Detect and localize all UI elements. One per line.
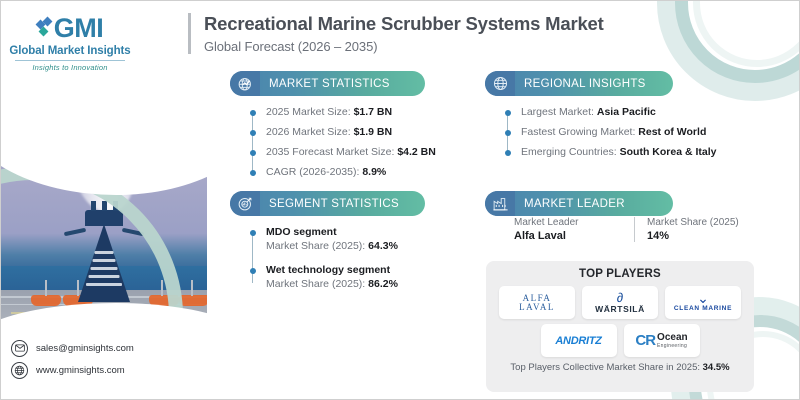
player-logo-mark: ∂: [595, 291, 645, 305]
davit: [161, 280, 163, 296]
contact-website-row[interactable]: www.gminsights.com: [11, 362, 167, 379]
davit: [191, 280, 193, 296]
market-leader-label: Market Leader: [514, 217, 634, 228]
decorative-ring-top-right-inner: [693, 0, 800, 67]
lifeboat: [31, 295, 61, 306]
player-logo-text: LAVAL: [519, 303, 555, 312]
collective-share-label: Top Players Collective Market Share in 2…: [510, 362, 700, 373]
top-players-title: TOP PLAYERS: [496, 268, 744, 280]
market-statistics-list: 2025 Market Size: $1.7 BN 2026 Market Si…: [249, 106, 489, 178]
brand-acronym: GMI: [54, 15, 104, 42]
player-logo-clean-marine: ⌄ CLEAN MARINE: [665, 286, 741, 319]
list-item: CAGR (2026-2035): 8.9%: [266, 166, 489, 178]
region-value: Asia Pacific: [597, 106, 656, 118]
section-label: MARKET LEADER: [515, 198, 625, 210]
market-leader-share-block: Market Share (2025) 14%: [647, 217, 767, 242]
segment-share-value: 64.3%: [368, 240, 398, 252]
player-logo-mark: ⌄: [674, 293, 732, 304]
player-logo-text: Ocean: [657, 333, 688, 343]
list-item: 2025 Market Size: $1.7 BN: [266, 106, 489, 118]
section-header-regional-insights: REGIONAL INSIGHTS: [485, 71, 673, 96]
market-leader-name-block: Market Leader Alfa Laval: [514, 217, 634, 242]
stat-label: CAGR (2026-2035):: [266, 166, 359, 178]
pie-target-icon: [230, 191, 260, 216]
segment-title: MDO segment: [266, 226, 489, 238]
decorative-ring-top-right-mid: [675, 0, 800, 83]
player-logo-alfa-laval: ALFA LAVAL: [499, 286, 575, 319]
region-label: Largest Market:: [521, 106, 594, 118]
player-logo-subtext: Engineering: [657, 343, 688, 349]
factory-icon: [485, 191, 515, 216]
logo-divider: [15, 60, 125, 61]
exhaust-stack: [91, 201, 96, 211]
segment-share-value: 86.2%: [368, 278, 398, 290]
vertical-divider: [634, 217, 635, 242]
funnel-cap: [85, 210, 123, 226]
list-item: Fastest Growing Market: Rest of World: [521, 126, 784, 138]
segment-share-label: Market Share (2025):: [266, 240, 365, 252]
ship-funnel: [78, 224, 130, 302]
stat-label: 2025 Market Size:: [266, 106, 351, 118]
gmi-diamonds-icon: [37, 18, 52, 40]
section-label: MARKET STATISTICS: [260, 78, 390, 90]
section-header-market-statistics: MARKET STATISTICS: [230, 71, 425, 96]
top-players-row-2: ANDRITZ CR Ocean Engineering: [496, 324, 744, 357]
contact-card: sales@gminsights.com www.gminsights.com: [0, 333, 167, 385]
list-item: 2026 Market Size: $1.9 BN: [266, 126, 489, 138]
page-title-block: Recreational Marine Scrubber Systems Mar…: [188, 13, 604, 54]
lifeboat: [179, 295, 207, 306]
player-logo-text: WÄRTSILÄ: [595, 305, 645, 314]
list-item: Wet technology segment Market Share (202…: [266, 264, 489, 290]
regional-insights-list: Largest Market: Asia Pacific Fastest Gro…: [504, 106, 784, 158]
stat-label: 2026 Market Size:: [266, 126, 351, 138]
list-item: 2035 Forecast Market Size: $4.2 BN: [266, 146, 489, 158]
player-logo-cr-ocean-engineering: CR Ocean Engineering: [624, 324, 700, 357]
globe-chart-icon: [230, 71, 260, 96]
list-item: Largest Market: Asia Pacific: [521, 106, 784, 118]
stat-label: 2035 Forecast Market Size:: [266, 146, 394, 158]
contact-email: sales@gminsights.com: [36, 343, 134, 354]
player-logo-wartsila: ∂ WÄRTSILÄ: [582, 286, 658, 319]
contact-email-row[interactable]: sales@gminsights.com: [11, 340, 167, 357]
region-value: South Korea & Italy: [620, 146, 717, 158]
segment-share-label: Market Share (2025):: [266, 278, 365, 290]
player-logo-text: ANDRITZ: [555, 335, 601, 347]
brand-logo: GMI Global Market Insights Insights to I…: [9, 15, 131, 72]
region-label: Fastest Growing Market:: [521, 126, 635, 138]
stat-value: $1.9 BN: [354, 126, 393, 138]
globe-icon: [485, 71, 515, 96]
top-players-collective-share: Top Players Collective Market Share in 2…: [496, 362, 744, 373]
decorative-ring-top-right-outer: [657, 0, 800, 101]
section-label: REGIONAL INSIGHTS: [515, 78, 646, 90]
brand-tagline: Insights to Innovation: [9, 63, 131, 72]
top-players-card: TOP PLAYERS ALFA LAVAL ∂ WÄRTSILÄ ⌄ CLEA…: [486, 261, 754, 392]
market-leader-details: Market Leader Alfa Laval Market Share (2…: [514, 217, 767, 242]
segment-title: Wet technology segment: [266, 264, 489, 276]
top-players-row-1: ALFA LAVAL ∂ WÄRTSILÄ ⌄ CLEAN MARINE: [496, 286, 744, 319]
region-label: Emerging Countries:: [521, 146, 617, 158]
envelope-icon: [11, 340, 28, 357]
contact-website: www.gminsights.com: [36, 365, 125, 376]
player-logo-text: CLEAN MARINE: [674, 305, 732, 312]
section-label: SEGMENT STATISTICS: [260, 198, 399, 210]
list-item: MDO segment Market Share (2025): 64.3%: [266, 226, 489, 252]
segment-share: Market Share (2025): 86.2%: [266, 278, 489, 290]
stat-value: $4.2 BN: [397, 146, 436, 158]
market-share-label: Market Share (2025): [647, 217, 767, 228]
globe-icon: [11, 362, 28, 379]
stat-value: 8.9%: [362, 166, 386, 178]
davit: [45, 280, 47, 296]
market-leader-value: Alfa Laval: [514, 230, 634, 242]
page-subtitle: Global Forecast (2026 – 2035): [204, 39, 604, 54]
section-header-segment-statistics: SEGMENT STATISTICS: [230, 191, 425, 216]
section-header-market-leader: MARKET LEADER: [485, 191, 673, 216]
exhaust-stack: [113, 201, 118, 211]
page-title: Recreational Marine Scrubber Systems Mar…: [204, 13, 604, 35]
stat-value: $1.7 BN: [354, 106, 393, 118]
player-logo-andritz: ANDRITZ: [541, 324, 617, 357]
collective-share-value: 34.5%: [703, 362, 730, 373]
player-logo-text: CR: [635, 332, 655, 349]
infographic-page: GMI Global Market Insights Insights to I…: [0, 0, 800, 400]
brand-full-name: Global Market Insights: [9, 45, 131, 57]
segment-share: Market Share (2025): 64.3%: [266, 240, 489, 252]
region-value: Rest of World: [638, 126, 706, 138]
list-item: Emerging Countries: South Korea & Italy: [521, 146, 784, 158]
exhaust-stack: [102, 201, 107, 211]
market-share-value: 14%: [647, 230, 767, 242]
segment-statistics-list: MDO segment Market Share (2025): 64.3% W…: [249, 226, 489, 290]
